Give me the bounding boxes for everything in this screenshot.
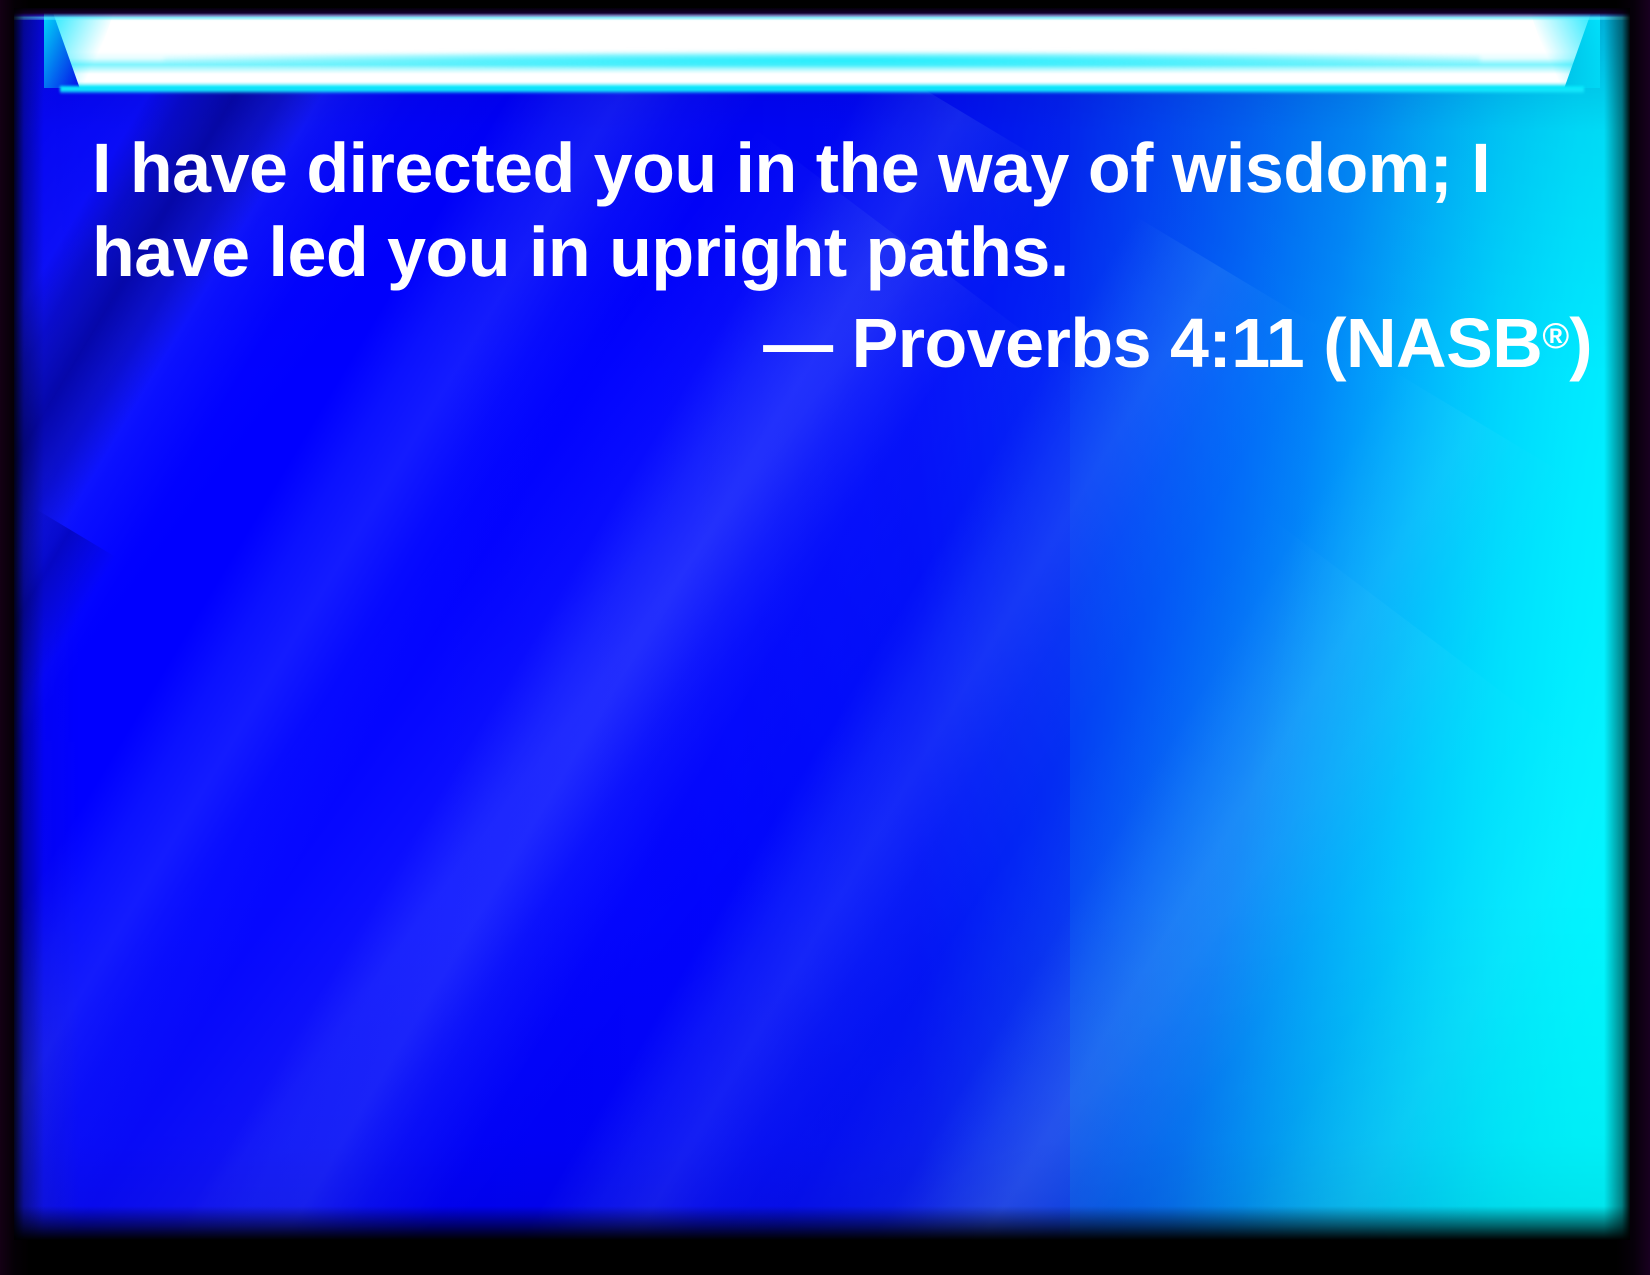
attribution-em-dash: —	[763, 304, 851, 382]
attribution-reference: 4:11	[1170, 304, 1304, 382]
attribution-translation-open: (NASB	[1304, 304, 1542, 382]
registered-trademark-icon: ®	[1542, 315, 1569, 356]
verse-slide: I have directed you in the way of wisdom…	[0, 0, 1650, 1275]
slide-canvas: I have directed you in the way of wisdom…	[14, 8, 1630, 1240]
attribution-translation-close: )	[1569, 304, 1592, 382]
verse-line-2: have led you in upright paths.	[92, 210, 1592, 294]
attribution-space	[1151, 304, 1170, 382]
verse-text: I have directed you in the way of wisdom…	[92, 126, 1592, 294]
attribution-book: Proverbs	[852, 304, 1151, 382]
verse-line-1: I have directed you in the way of wisdom…	[92, 126, 1592, 210]
verse-attribution: — Proverbs 4:11 (NASB®)	[92, 294, 1592, 385]
